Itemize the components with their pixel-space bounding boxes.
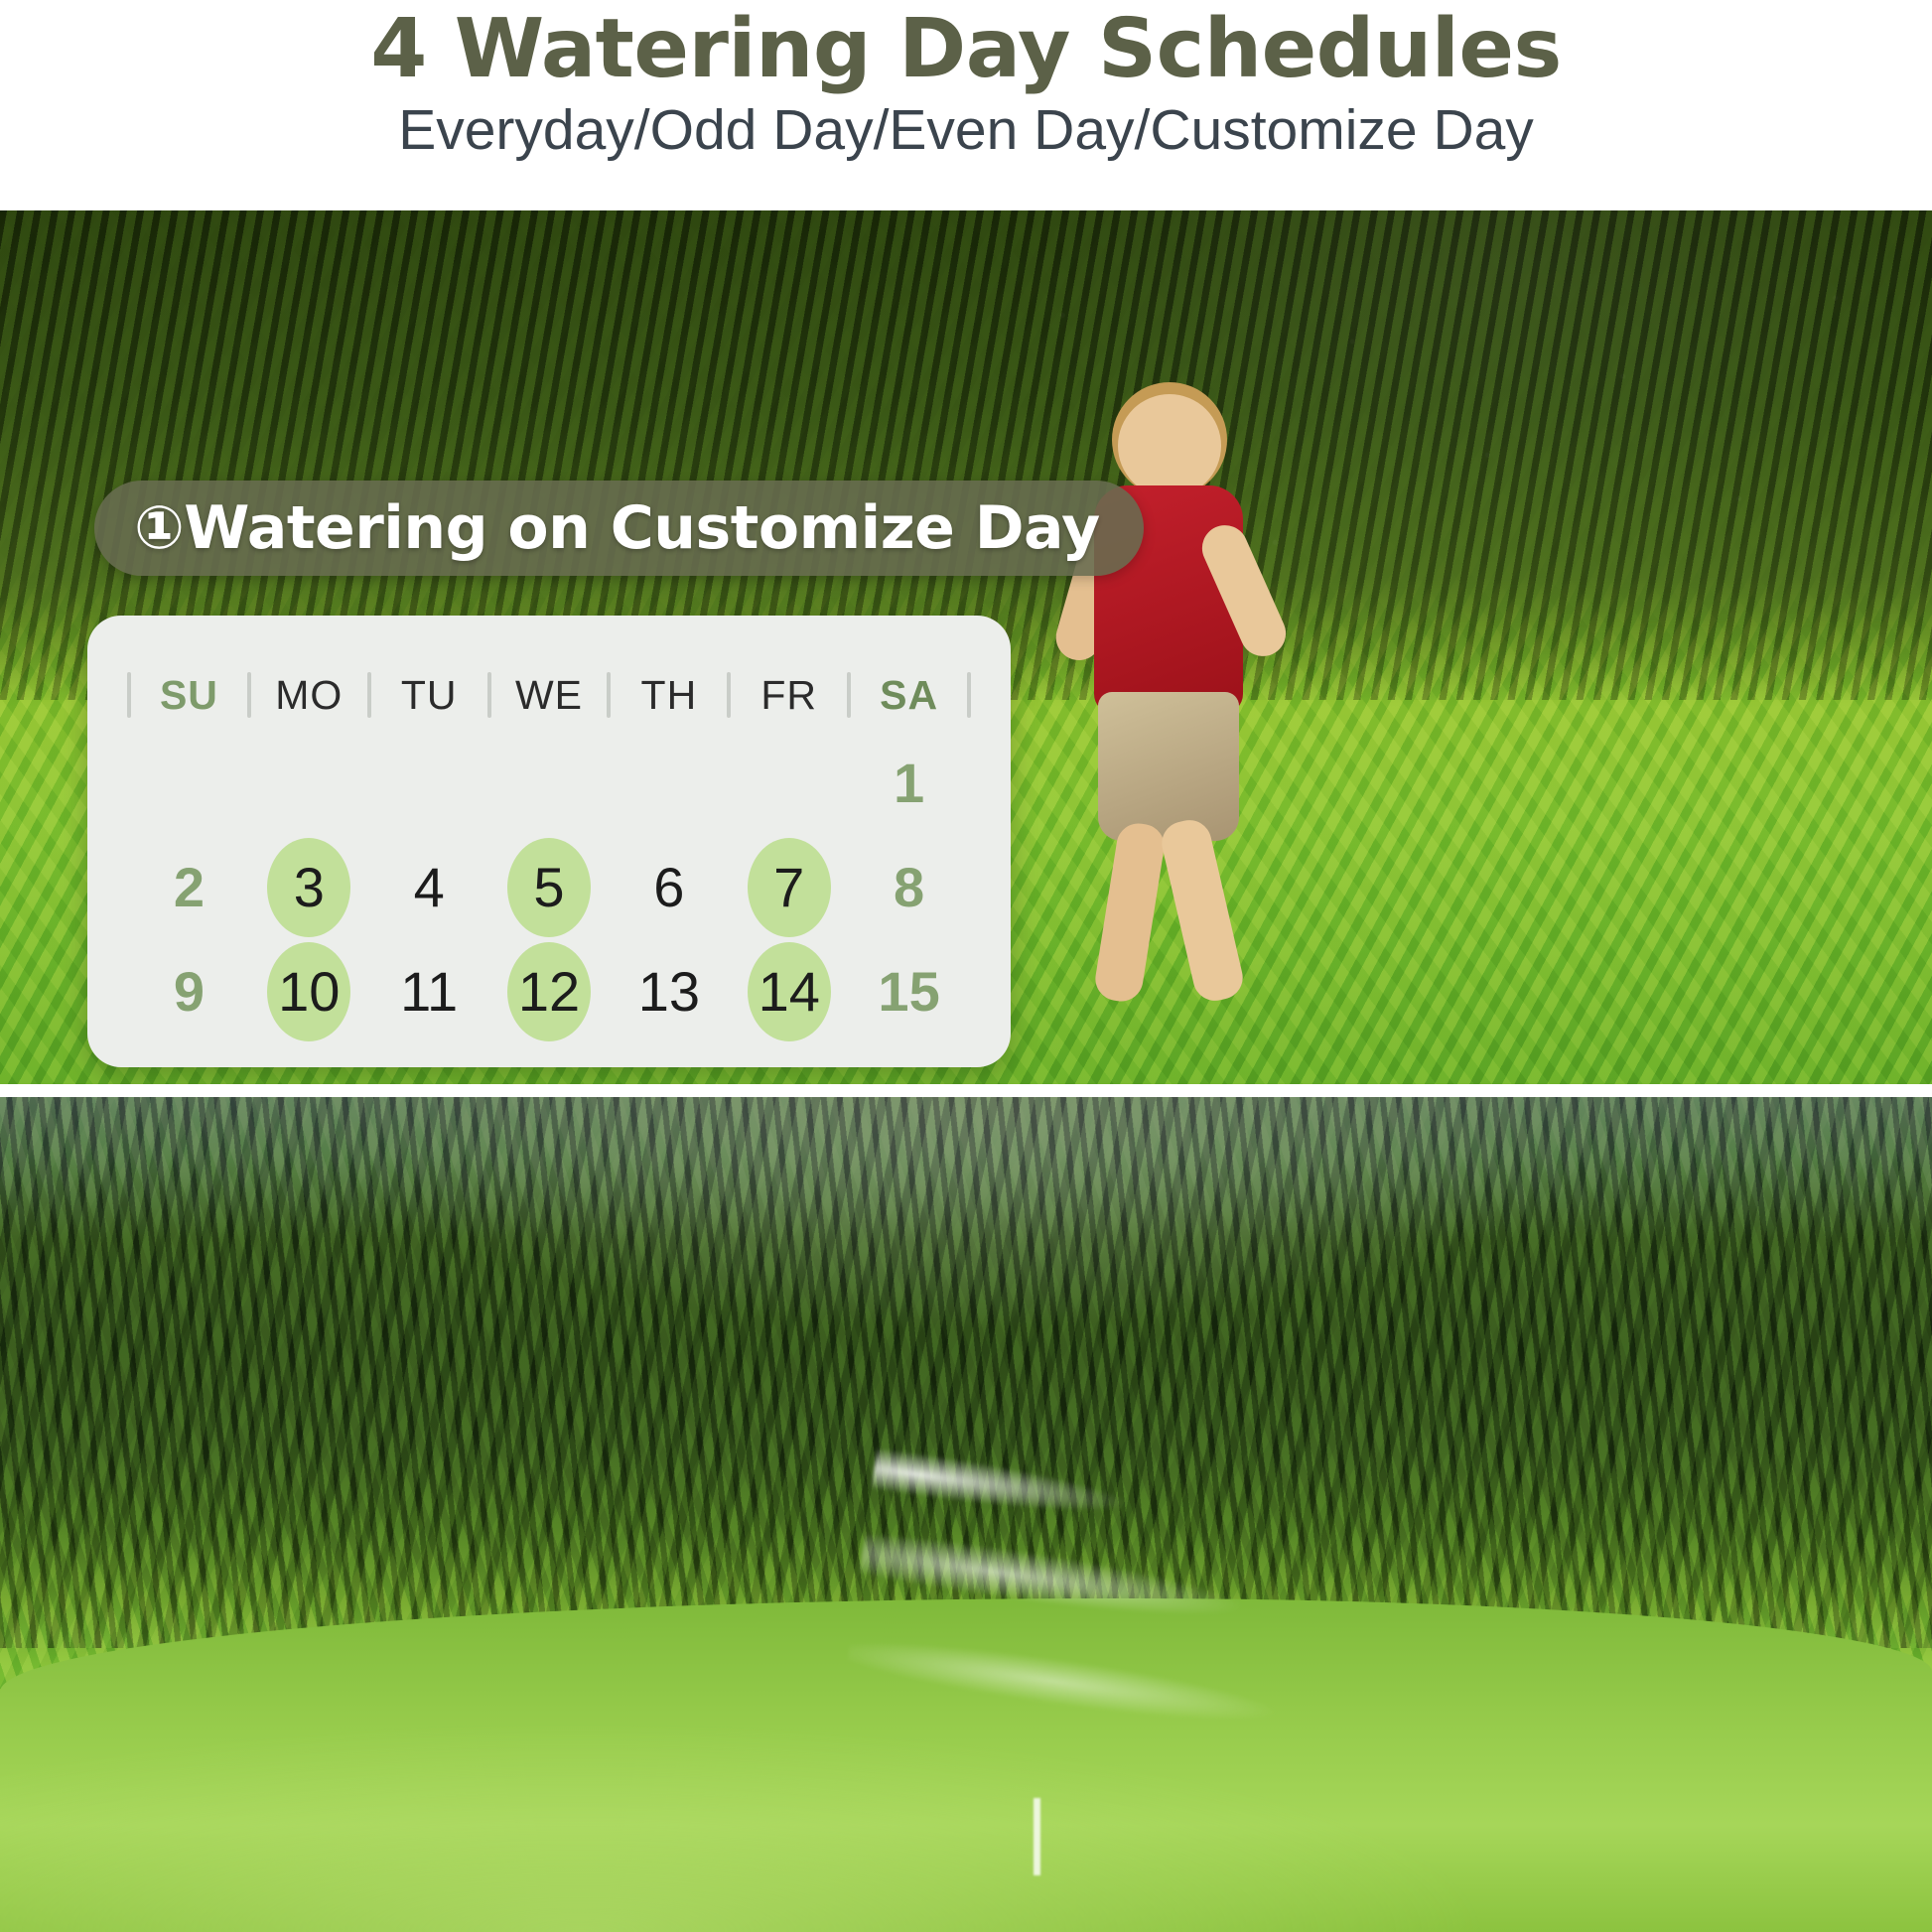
calendar-cell: 7 — [731, 838, 847, 937]
calendar-day[interactable]: 11 — [387, 942, 471, 1041]
page-title: 4 Watering Day Schedules — [370, 6, 1562, 94]
calendar-grid: 123456789101112131415 — [117, 731, 981, 1043]
header: 4 Watering Day Schedules Everyday/Odd Da… — [0, 0, 1932, 210]
child-shorts — [1098, 692, 1239, 841]
calendar-day[interactable]: 13 — [627, 942, 711, 1041]
calendar-day-selected[interactable]: 14 — [748, 942, 831, 1041]
banner-label: ①Watering on Customize Day — [134, 493, 1100, 563]
calendar-day[interactable]: 1 — [868, 734, 951, 833]
calendar-cell: 4 — [371, 838, 487, 937]
calendar-cell: 11 — [371, 942, 487, 1041]
calendar-cell — [371, 734, 487, 833]
calendar-cell: 3 — [251, 838, 367, 937]
panel-even-odd-day: ②Watering on even/odd Day SU MO TU WE TH… — [0, 1097, 1932, 1932]
product-feature-image: 4 Watering Day Schedules Everyday/Odd Da… — [0, 0, 1932, 1932]
weekday-we: WE — [491, 672, 608, 719]
calendar-day-empty — [387, 734, 471, 833]
child-leg-left — [1092, 820, 1168, 1004]
calendar-cell — [731, 734, 847, 833]
weekday-sa: SA — [851, 672, 967, 719]
calendar-day-empty — [507, 734, 591, 833]
child-leg-right — [1158, 816, 1247, 1006]
calendar-day[interactable]: 4 — [387, 838, 471, 937]
calendar-day-empty — [267, 734, 350, 833]
calendar-day[interactable]: 15 — [868, 942, 951, 1041]
banner-pill-customize-day: ①Watering on Customize Day — [94, 481, 1144, 576]
calendar-cell: 2 — [131, 838, 247, 937]
calendar-week-row: 2345678 — [117, 835, 981, 939]
calendar-cell — [251, 734, 367, 833]
calendar-cell: 14 — [731, 942, 847, 1041]
calendar-cell: 15 — [851, 942, 967, 1041]
calendar-day-empty — [627, 734, 711, 833]
calendar-cell — [131, 734, 247, 833]
calendar-cell: 1 — [851, 734, 967, 833]
calendar-cell: 5 — [491, 838, 608, 937]
calendar-cell: 8 — [851, 838, 967, 937]
calendar-cell: 10 — [251, 942, 367, 1041]
calendar-week-row: 9101112131415 — [117, 939, 981, 1043]
calendar-cell: 6 — [611, 838, 727, 937]
calendar-cell — [611, 734, 727, 833]
calendar-card-customize-day[interactable]: SU MO TU WE TH FR SA 1234567891011121314… — [87, 616, 1011, 1067]
weekday-fr: FR — [731, 672, 847, 719]
calendar-day[interactable]: 2 — [147, 838, 230, 937]
weekday-mo: MO — [251, 672, 367, 719]
calendar-day-empty — [147, 734, 230, 833]
calendar-day-empty — [748, 734, 831, 833]
panel-customize-day: ①Watering on Customize Day SU MO TU WE T… — [0, 210, 1932, 1084]
calendar-day[interactable]: 6 — [627, 838, 711, 937]
calendar-cell: 9 — [131, 942, 247, 1041]
column-divider — [967, 672, 971, 718]
calendar-day-selected[interactable]: 10 — [267, 942, 350, 1041]
sprinkler-water-jet — [828, 1447, 1389, 1872]
calendar-day[interactable]: 9 — [147, 942, 230, 1041]
sprinkler-riser — [1034, 1798, 1040, 1875]
calendar-cell: 12 — [491, 942, 608, 1041]
calendar-week-row: 1 — [117, 731, 981, 835]
weekday-tu: TU — [371, 672, 487, 719]
calendar-day-selected[interactable]: 7 — [748, 838, 831, 937]
calendar-day-selected[interactable]: 5 — [507, 838, 591, 937]
child-head — [1118, 394, 1221, 497]
calendar-day-selected[interactable]: 3 — [267, 838, 350, 937]
calendar-weekday-header: SU MO TU WE TH FR SA — [117, 659, 981, 731]
calendar-day-selected[interactable]: 12 — [507, 942, 591, 1041]
calendar-cell: 13 — [611, 942, 727, 1041]
weekday-su: SU — [131, 672, 247, 719]
calendar-cell — [491, 734, 608, 833]
weekday-th: TH — [611, 672, 727, 719]
page-subtitle: Everyday/Odd Day/Even Day/Customize Day — [398, 98, 1534, 164]
calendar-day[interactable]: 8 — [868, 838, 951, 937]
